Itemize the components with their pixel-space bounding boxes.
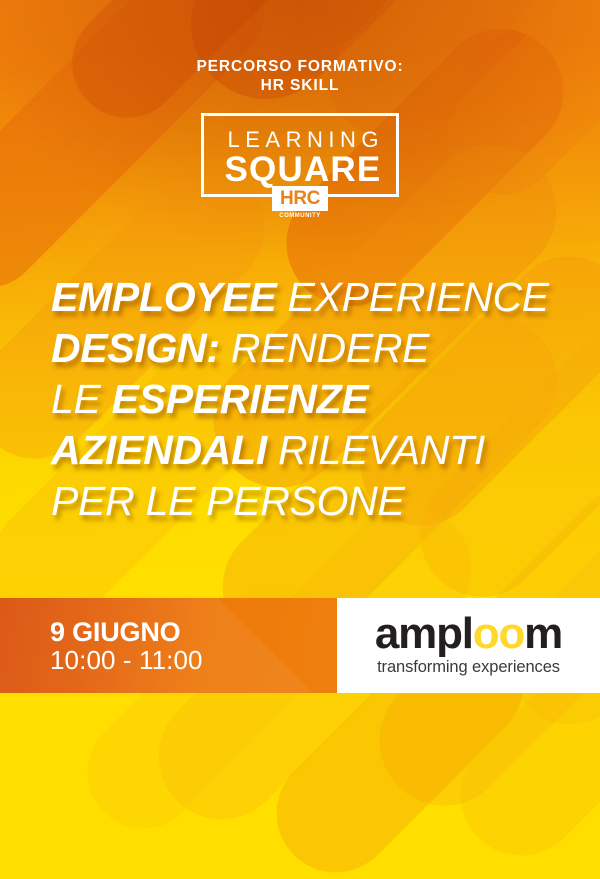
course-kicker: PERCORSO FORMATIVO: HR SKILL — [0, 57, 600, 95]
hrc-badge-subtext: COMMUNITY — [272, 212, 328, 220]
event-date-band: 9 GIUGNO 10:00 - 11:00 — [0, 598, 337, 693]
headline-pre-le: LE — [51, 376, 112, 422]
page-title: EMPLOYEE EXPERIENCE DESIGN: RENDERE LE E… — [51, 272, 571, 527]
kicker-line-1: PERCORSO FORMATIVO: — [0, 57, 600, 76]
event-time: 10:00 - 11:00 — [50, 645, 203, 675]
learning-square-logo-frame: LEARNING SQUARE — [201, 113, 399, 197]
wordmark-part-2: m — [524, 609, 562, 658]
headline-line-2: DESIGN: RENDERE — [51, 323, 571, 374]
sponsor-logo-panel: amploom transforming experiences — [337, 598, 600, 693]
poster-canvas: PERCORSO FORMATIVO: HR SKILL LEARNING SQ… — [0, 0, 600, 879]
headline-line-3: LE ESPERIENZE — [51, 374, 571, 425]
headline-rest-rilevanti: RILEVANTI — [267, 427, 485, 473]
hrc-badge: HRC — [272, 186, 328, 211]
sponsor-tagline: transforming experiences — [337, 658, 600, 677]
kicker-line-2: HR SKILL — [0, 76, 600, 95]
logo-word-learning: LEARNING — [204, 128, 402, 152]
hrc-badge-text: HRC — [272, 188, 328, 209]
wordmark-part-1: ampl — [375, 609, 473, 658]
headline-em-design: DESIGN: — [51, 325, 220, 371]
headline-rest-rendere: RENDERE — [220, 325, 429, 371]
headline-em-employee: EMPLOYEE — [51, 274, 276, 320]
event-date: 9 GIUGNO — [50, 617, 180, 648]
headline-line-4: AZIENDALI RILEVANTI — [51, 425, 571, 476]
headline-em-esperienze: ESPERIENZE — [112, 376, 369, 422]
wordmark-oo-accent: oo — [473, 609, 524, 658]
logo-word-square: SQUARE — [204, 151, 402, 189]
headline-line-5: PER LE PERSONE — [51, 476, 571, 527]
headline-rest-experience: EXPERIENCE — [276, 274, 548, 320]
headline-em-aziendali: AZIENDALI — [51, 427, 267, 473]
headline-line-1: EMPLOYEE EXPERIENCE — [51, 272, 571, 323]
sponsor-logo-wordmark: amploom — [337, 611, 600, 657]
